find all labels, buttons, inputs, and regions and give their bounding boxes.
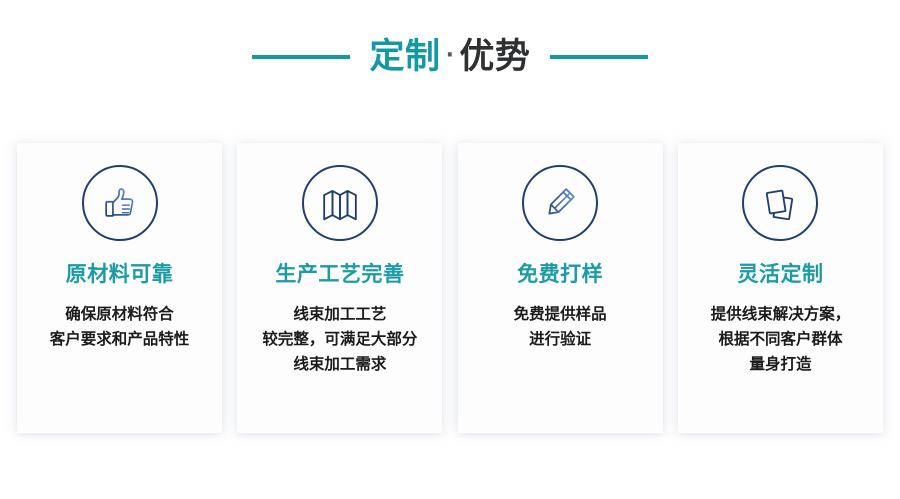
pencil-icon [540, 183, 580, 223]
title-rule-right [550, 55, 648, 59]
advantage-card[interactable]: 免费打样 免费提供样品 进行验证 [458, 143, 663, 433]
title-main-text: 优势 [459, 40, 530, 75]
card-body-line: 提供线束解决方案， [684, 302, 877, 327]
page-title: 定制 · 优势 [370, 40, 531, 75]
icon-circle [522, 165, 598, 241]
title-accent-text: 定制 [370, 40, 441, 75]
card-body: 免费提供样品 进行验证 [458, 302, 663, 352]
card-body-line: 客户要求和产品特性 [23, 327, 216, 352]
advantage-card-list: 原材料可靠 确保原材料符合 客户要求和产品特性 生产工艺完善 线束加工工艺 较完… [17, 143, 883, 433]
icon-circle [742, 165, 818, 241]
card-body: 确保原材料符合 客户要求和产品特性 [17, 302, 222, 352]
thumbs-up-icon [100, 183, 140, 223]
card-body-line: 根据不同客户群体 [684, 327, 877, 352]
card-body-line: 量身打造 [684, 352, 877, 377]
icon-circle [82, 165, 158, 241]
card-body-line: 进行验证 [464, 327, 657, 352]
section-title: 定制 · 优势 [0, 26, 900, 88]
title-separator-dot: · [441, 45, 460, 67]
card-body-line: 确保原材料符合 [23, 302, 216, 327]
card-body: 线束加工工艺 较完整，可满足大部分 线束加工需求 [237, 302, 442, 377]
card-body-line: 线束加工工艺 [243, 302, 436, 327]
card-heading: 免费打样 [517, 263, 603, 286]
card-body: 提供线束解决方案， 根据不同客户群体 量身打造 [678, 302, 883, 377]
card-body-line: 线束加工需求 [243, 352, 436, 377]
card-heading: 灵活定制 [737, 263, 823, 286]
card-body-line: 免费提供样品 [464, 302, 657, 327]
icon-circle [302, 165, 378, 241]
advantage-card[interactable]: 灵活定制 提供线束解决方案， 根据不同客户群体 量身打造 [678, 143, 883, 433]
card-body-line: 较完整，可满足大部分 [243, 327, 436, 352]
advantage-card[interactable]: 生产工艺完善 线束加工工艺 较完整，可满足大部分 线束加工需求 [237, 143, 442, 433]
folded-map-icon [320, 183, 360, 223]
card-heading: 原材料可靠 [66, 263, 174, 286]
card-heading: 生产工艺完善 [275, 263, 404, 286]
stacked-cards-icon [760, 183, 800, 223]
advantage-card[interactable]: 原材料可靠 确保原材料符合 客户要求和产品特性 [17, 143, 222, 433]
title-rule-left [252, 55, 350, 59]
